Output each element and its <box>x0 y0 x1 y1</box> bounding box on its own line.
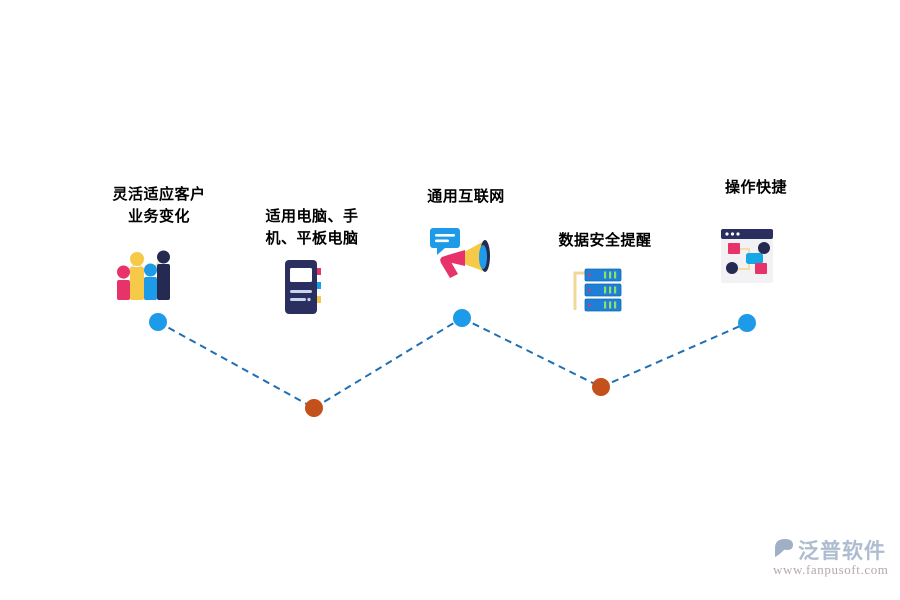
connector-line <box>462 318 601 387</box>
connector-line <box>158 322 314 408</box>
connector-line <box>314 318 462 408</box>
server-rack-icon <box>568 266 624 321</box>
watermark-brand: 泛普软件 <box>798 535 886 565</box>
brand-swirl-icon <box>772 536 796 560</box>
tablet-notebook-icon <box>282 258 330 321</box>
watermark-logo: 泛普软件 www.fanpusoft.com <box>772 534 892 586</box>
watermark-url: www.fanpusoft.com <box>773 562 889 578</box>
milestone-label-1: 灵活适应客户 业务变化 <box>93 183 225 227</box>
milestone-label-4: 数据安全提醒 <box>535 229 675 251</box>
browser-flowchart-icon <box>719 227 777 290</box>
infographic-canvas: 灵活适应客户 业务变化 适用电脑、手 机、平板电脑 通用互联网 数据安全提醒 操… <box>0 0 900 600</box>
milestone-label-2: 适用电脑、手 机、平板电脑 <box>246 205 378 249</box>
megaphone-announcement-icon <box>428 226 490 289</box>
connector-line <box>601 323 747 387</box>
milestone-label-3: 通用互联网 <box>400 185 532 207</box>
milestone-label-5: 操作快捷 <box>690 176 822 198</box>
bar-chart-people-icon <box>113 250 179 307</box>
